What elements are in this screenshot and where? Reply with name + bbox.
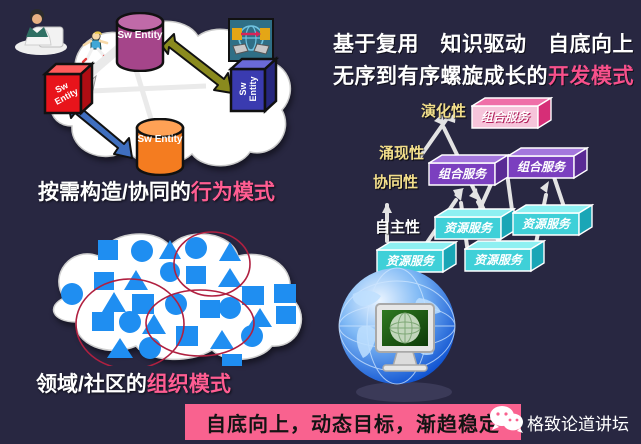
entity-cylinder-purple: Sw Entity	[114, 12, 166, 72]
composite-service-top: 组合服务	[471, 96, 553, 130]
entity-label: Sw Entity	[238, 73, 258, 105]
property-label-autonomy: 自主性	[375, 216, 420, 237]
composite-service-label: 组合服务	[508, 158, 574, 175]
entity-cylinder-orange: Sw Entity	[134, 118, 186, 176]
resource-service-label: 资源服务	[513, 215, 579, 232]
entity-cube-blue: Sw Entity	[228, 55, 282, 115]
behavior-cloud-caption: 按需构造/协同的行为模式	[38, 176, 275, 206]
heading-line-2-accent: 开发模式	[548, 65, 634, 88]
property-label-evolution: 演化性	[421, 100, 466, 121]
heading-line-2: 无序到有序螺旋成长的开发模式	[333, 60, 634, 90]
resource-service-2: 资源服务	[512, 203, 594, 237]
property-label-emergence: 涌现性	[379, 142, 424, 163]
caption-accent: 行为模式	[191, 181, 275, 204]
resource-service-1: 资源服务	[434, 207, 516, 241]
bottom-banner: 自底向上，动态目标，渐趋稳定	[185, 404, 521, 440]
property-label-collaboration: 协同性	[373, 171, 418, 192]
resource-service-label: 资源服务	[435, 219, 501, 236]
composite-service-right: 组合服务	[507, 146, 589, 180]
banner-text: 自底向上，动态目标，渐趋稳定	[206, 408, 500, 437]
globe-with-monitor-icon	[331, 264, 477, 410]
composite-service-label: 组合服务	[472, 108, 538, 125]
heading-line-1: 基于复用 知识驱动 自底向上	[333, 28, 634, 58]
caption-white: 按需构造/协同的	[38, 181, 191, 204]
community-cloud-caption: 领域/社区的组织模式	[36, 368, 231, 398]
heading-line-2-white: 无序到有序螺旋成长的	[333, 65, 548, 88]
slide-canvas: 基于复用 知识驱动 自底向上 无序到有序螺旋成长的开发模式	[0, 0, 641, 444]
community-nodes	[20, 226, 320, 366]
caption-accent: 组织模式	[147, 373, 231, 396]
entity-label: Sw Entity	[114, 30, 166, 42]
entity-label: Sw Entity	[134, 134, 186, 146]
wechat-icon	[489, 405, 523, 433]
caption-white: 领域/社区的	[36, 373, 147, 396]
entity-cube-red: Sw Entity	[42, 60, 96, 116]
brand-name: 格致论道讲坛	[527, 410, 629, 435]
